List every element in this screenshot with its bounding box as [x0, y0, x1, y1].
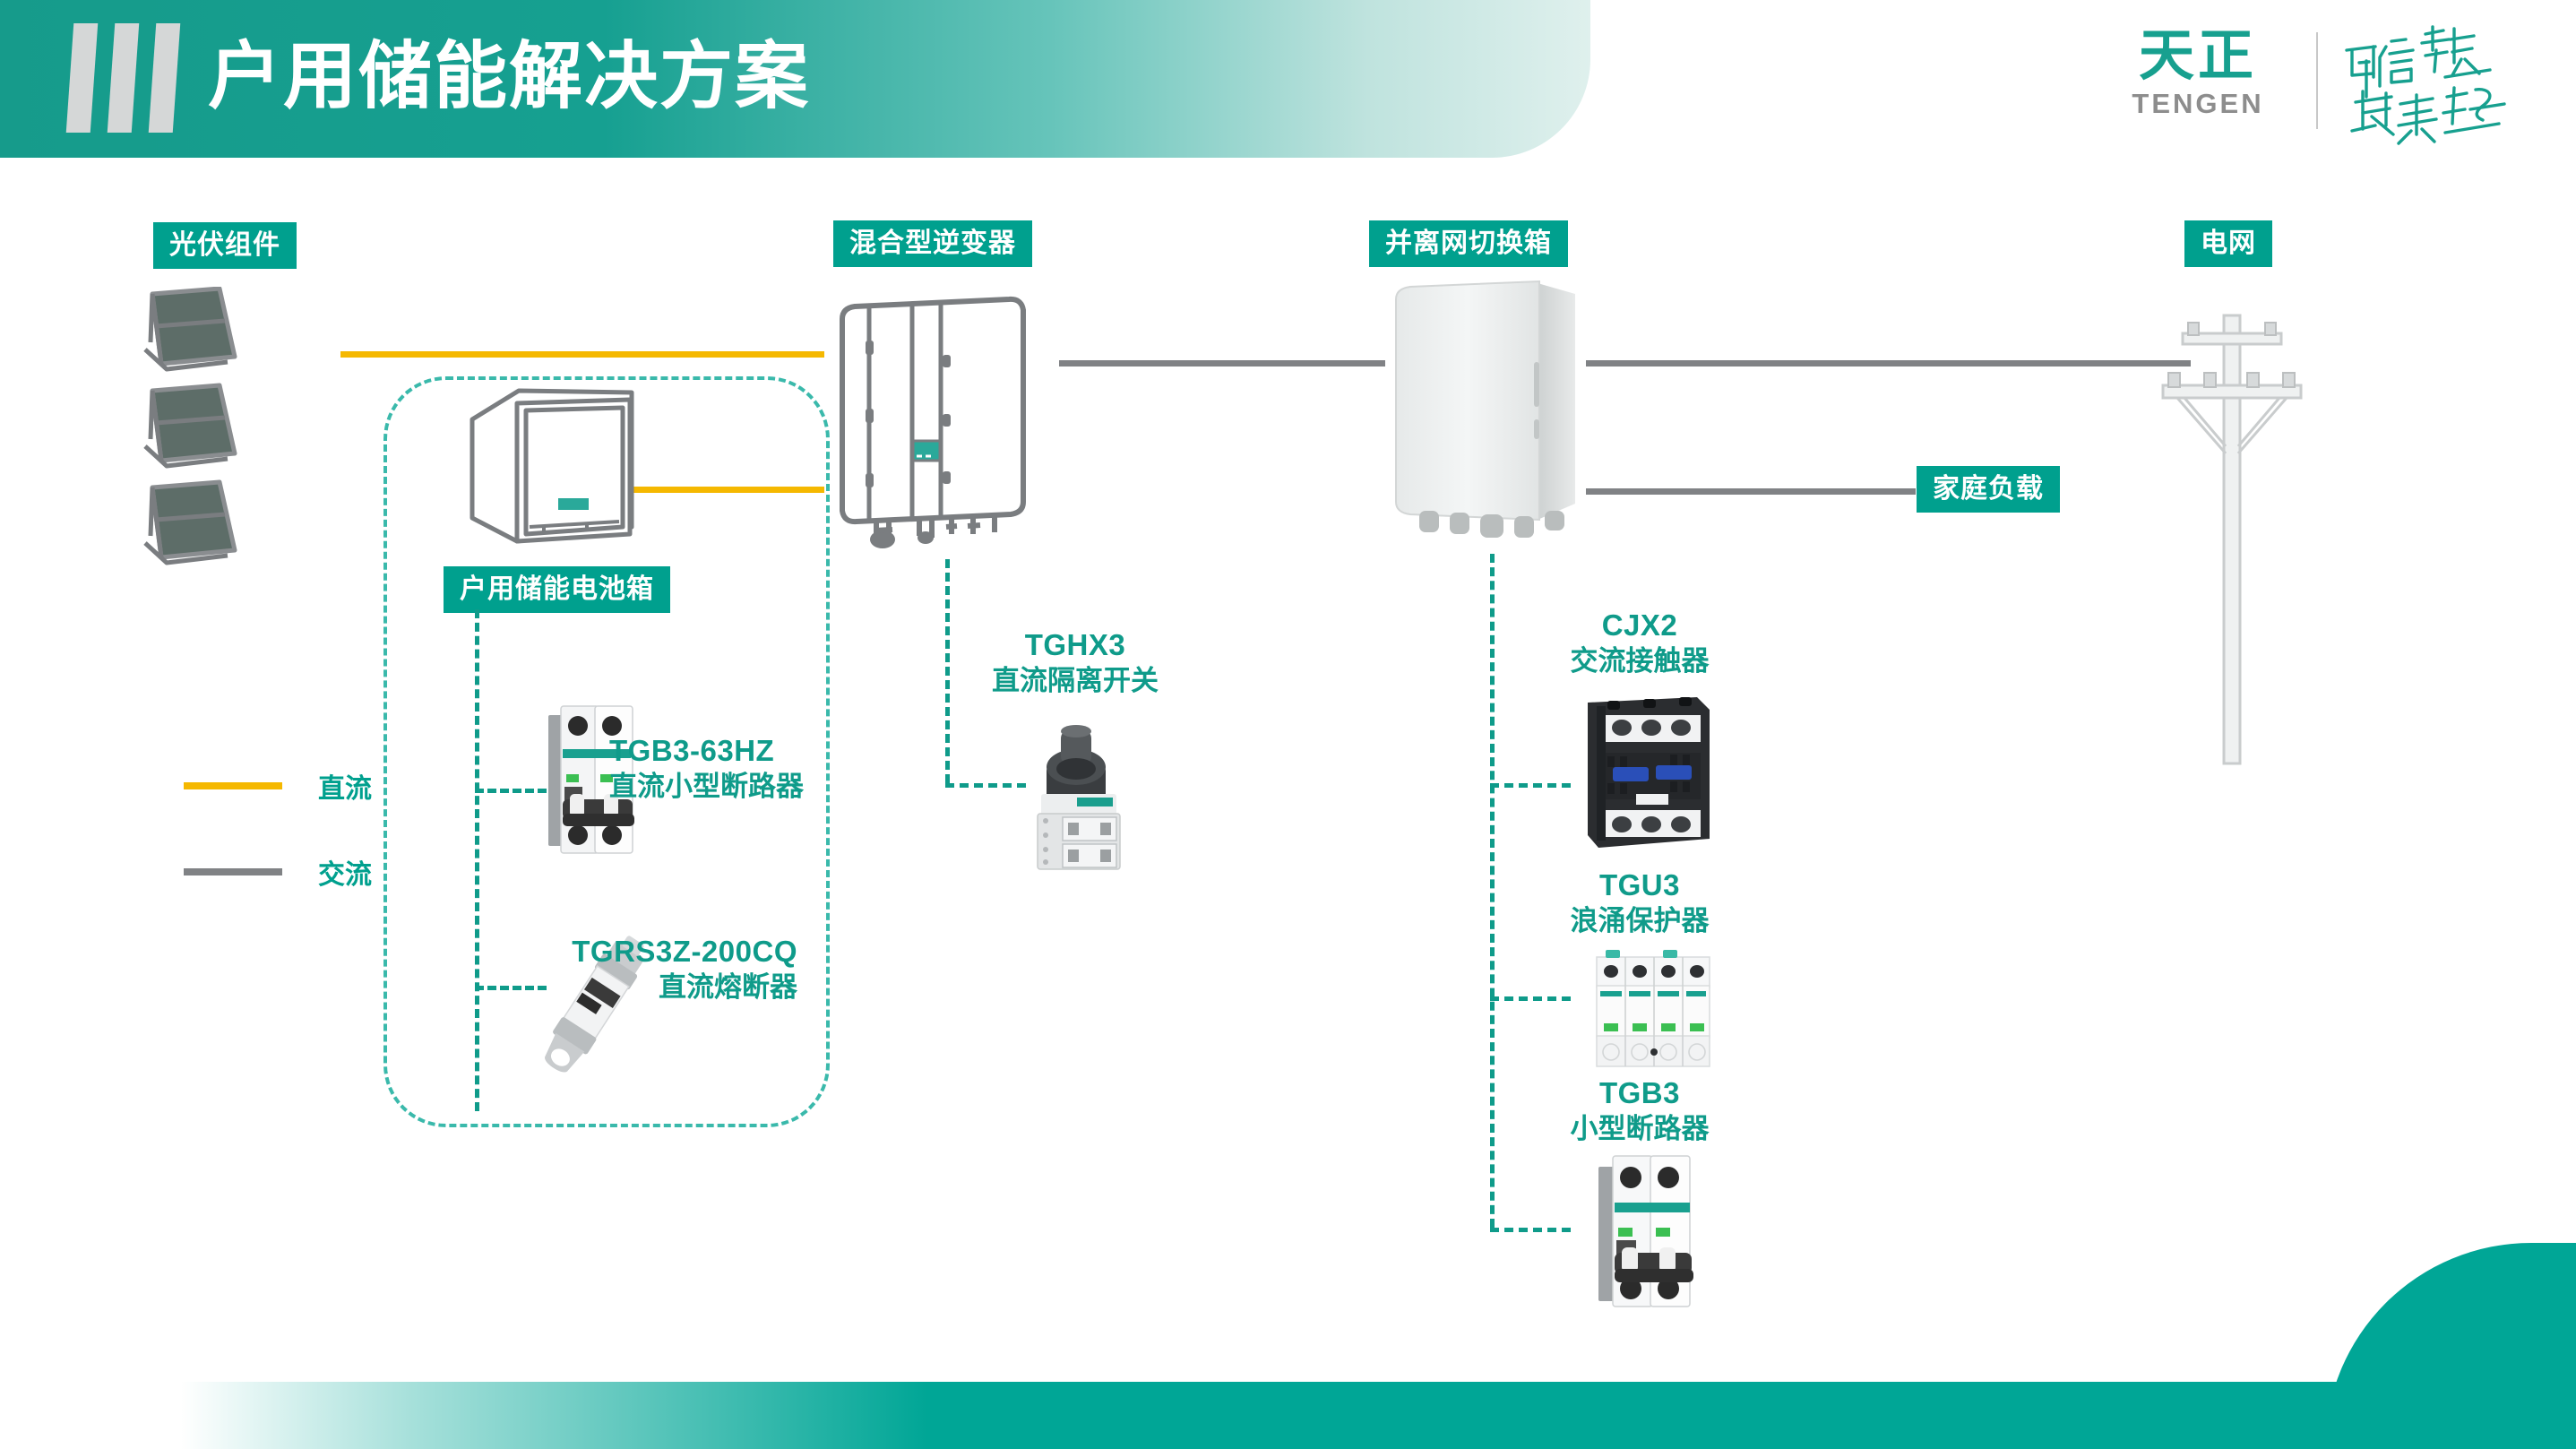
- inverter-branch-to-isolator: [945, 783, 1026, 788]
- legend-label-ac: 交流: [318, 852, 372, 892]
- product-desc-dc-isolator: 直流隔离开关: [941, 663, 1210, 699]
- dc-line-pv-inverter: [340, 351, 824, 358]
- legend-swatch-ac: [184, 868, 282, 875]
- product-label-dc-isolator: TGHX3 直流隔离开关: [941, 627, 1210, 699]
- product-desc-dc-breaker: 直流小型断路器: [609, 769, 824, 805]
- product-model-dc-isolator: TGHX3: [941, 627, 1210, 663]
- switchbox-branch-to-ac-breaker: [1490, 1228, 1571, 1232]
- product-desc-ac-contactor: 交流接触器: [1523, 643, 1756, 679]
- brand-name-en: TENGEN: [2108, 88, 2287, 120]
- product-desc-dc-fuse: 直流熔断器: [538, 970, 797, 1005]
- product-model-dc-fuse: TGRS3Z-200CQ: [538, 934, 797, 970]
- product-label-dc-breaker: TGB3-63HZ 直流小型断路器: [609, 733, 824, 805]
- inverter-illustration: [833, 296, 1057, 556]
- ac-line-inverter-switchbox: [1059, 360, 1385, 367]
- brand-name-cn: 天正: [2108, 25, 2287, 88]
- footer-corner-curve: [2325, 1243, 2576, 1449]
- product-label-ac-contactor: CJX2 交流接触器: [1523, 608, 1756, 679]
- product-desc-ac-breaker: 小型断路器: [1523, 1111, 1756, 1147]
- brand-mark: 天正 TENGEN: [2108, 25, 2287, 120]
- brand-divider: [2316, 32, 2318, 129]
- slide-canvas: 户用储能解决方案 天正 TENGEN: [0, 0, 2576, 1449]
- node-label-grid: 电网: [2184, 220, 2272, 267]
- footer-band: [0, 1382, 2576, 1449]
- ac-line-switchbox-grid: [1586, 360, 2191, 367]
- node-label-pv: 光伏组件: [153, 222, 297, 269]
- brand-slogan-handwriting: [2339, 20, 2528, 145]
- switchbox-illustration: [1387, 280, 1586, 541]
- node-label-switchbox: 并离网切换箱: [1369, 220, 1568, 267]
- spd-image: [1584, 941, 1727, 1084]
- switchbox-branch-to-contactor: [1490, 783, 1571, 788]
- header-banner: 户用储能解决方案: [0, 0, 1590, 158]
- product-model-ac-breaker: TGB3: [1523, 1075, 1756, 1111]
- pv-array-illustration: [134, 287, 340, 582]
- product-model-ac-contactor: CJX2: [1523, 608, 1756, 643]
- dc-isolator-image: [1021, 717, 1138, 878]
- three-bars-icon: [70, 23, 186, 133]
- page-title: 户用储能解决方案: [208, 23, 810, 131]
- legend-item-ac: 交流: [184, 852, 372, 892]
- switchbox-branch-to-spd: [1490, 996, 1571, 1001]
- switchbox-branch-trunk: [1490, 554, 1495, 1228]
- battery-branch-trunk: [475, 609, 479, 1111]
- battery-cabinet-illustration: [461, 384, 641, 554]
- ac-breaker-image: [1584, 1147, 1710, 1317]
- ac-contactor-image: [1566, 688, 1727, 858]
- legend-item-dc: 直流: [184, 766, 372, 806]
- product-label-spd: TGU3 浪涌保护器: [1523, 867, 1756, 939]
- product-desc-spd: 浪涌保护器: [1523, 903, 1756, 939]
- ac-line-switchbox-home-load: [1586, 488, 1916, 495]
- node-label-home-load: 家庭负载: [1917, 466, 2060, 513]
- brand-logo: 天正 TENGEN: [2108, 20, 2529, 145]
- product-model-dc-breaker: TGB3-63HZ: [609, 733, 824, 769]
- product-model-spd: TGU3: [1523, 867, 1756, 903]
- utility-pole-illustration: [2150, 296, 2312, 771]
- legend-swatch-dc: [184, 782, 282, 789]
- product-label-ac-breaker: TGB3 小型断路器: [1523, 1075, 1756, 1147]
- legend-label-dc: 直流: [318, 766, 372, 806]
- node-label-inverter: 混合型逆变器: [833, 220, 1032, 267]
- product-label-dc-fuse: TGRS3Z-200CQ 直流熔断器: [538, 934, 797, 1005]
